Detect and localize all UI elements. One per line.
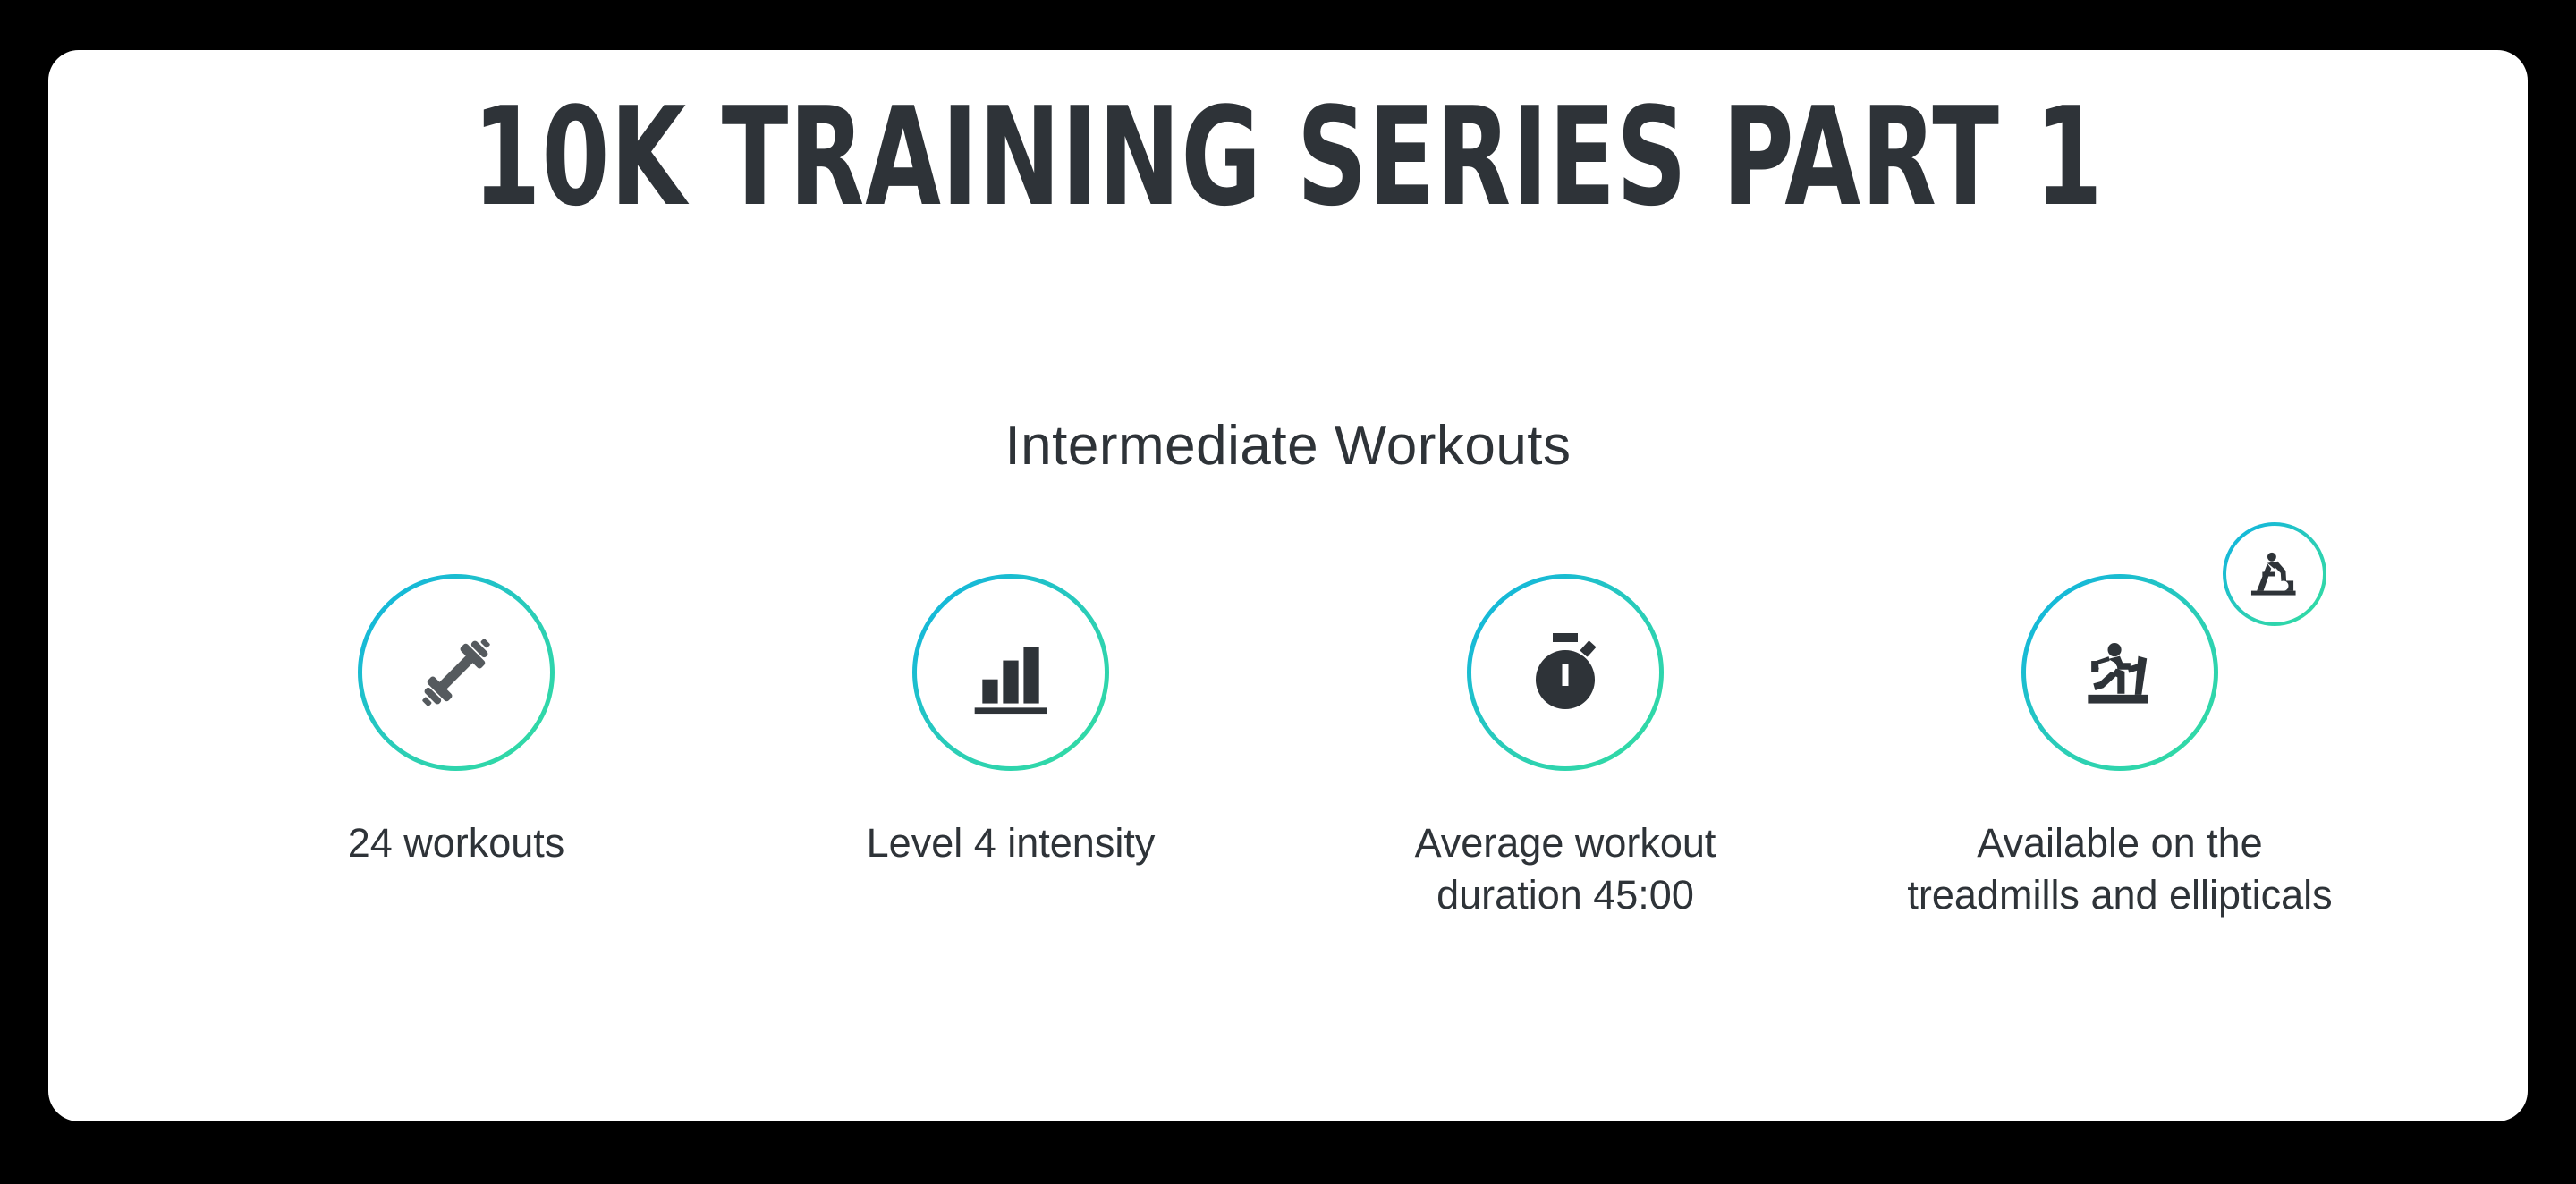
page-subtitle: Intermediate Workouts: [48, 419, 2528, 474]
stopwatch-icon: [1467, 574, 1664, 771]
feature-caption-line: Average workout: [1415, 817, 1716, 869]
feature-icon-circle: [2021, 574, 2218, 771]
elliptical-badge-circle: [2223, 522, 2326, 626]
feature-caption: 24 workouts: [348, 817, 565, 869]
page-title: 10K TRAINING SERIES PART 1: [296, 89, 2280, 225]
feature-icon-circle: [1467, 574, 1664, 771]
feature-item-equipment: Available on the treadmills and elliptic…: [1843, 574, 2397, 920]
dumbbell-icon: [358, 574, 555, 771]
feature-caption: Level 4 intensity: [867, 817, 1156, 869]
feature-caption: Average workout duration 45:00: [1415, 817, 1716, 920]
bar-chart-icon: [912, 574, 1109, 771]
screenshot-root: 10K TRAINING SERIES PART 1 Intermediate …: [0, 0, 2576, 1184]
feature-caption-line: duration 45:00: [1415, 869, 1716, 921]
feature-caption-line: Available on the: [1907, 817, 2332, 869]
feature-icon-circle: [912, 574, 1109, 771]
feature-caption: Available on the treadmills and elliptic…: [1907, 817, 2332, 920]
feature-item-duration: Average workout duration 45:00: [1288, 574, 1843, 920]
feature-item-intensity: Level 4 intensity: [733, 574, 1288, 869]
feature-caption-line: Level 4 intensity: [867, 817, 1156, 869]
feature-caption-line: treadmills and ellipticals: [1907, 869, 2332, 921]
feature-icon-circle: [358, 574, 555, 771]
treadmill-icon: [2021, 574, 2218, 771]
workout-series-card: 10K TRAINING SERIES PART 1 Intermediate …: [48, 50, 2528, 1121]
feature-item-workouts: 24 workouts: [179, 574, 733, 869]
feature-list: 24 workouts: [48, 574, 2528, 968]
feature-caption-line: 24 workouts: [348, 817, 565, 869]
elliptical-icon: [2223, 522, 2326, 626]
